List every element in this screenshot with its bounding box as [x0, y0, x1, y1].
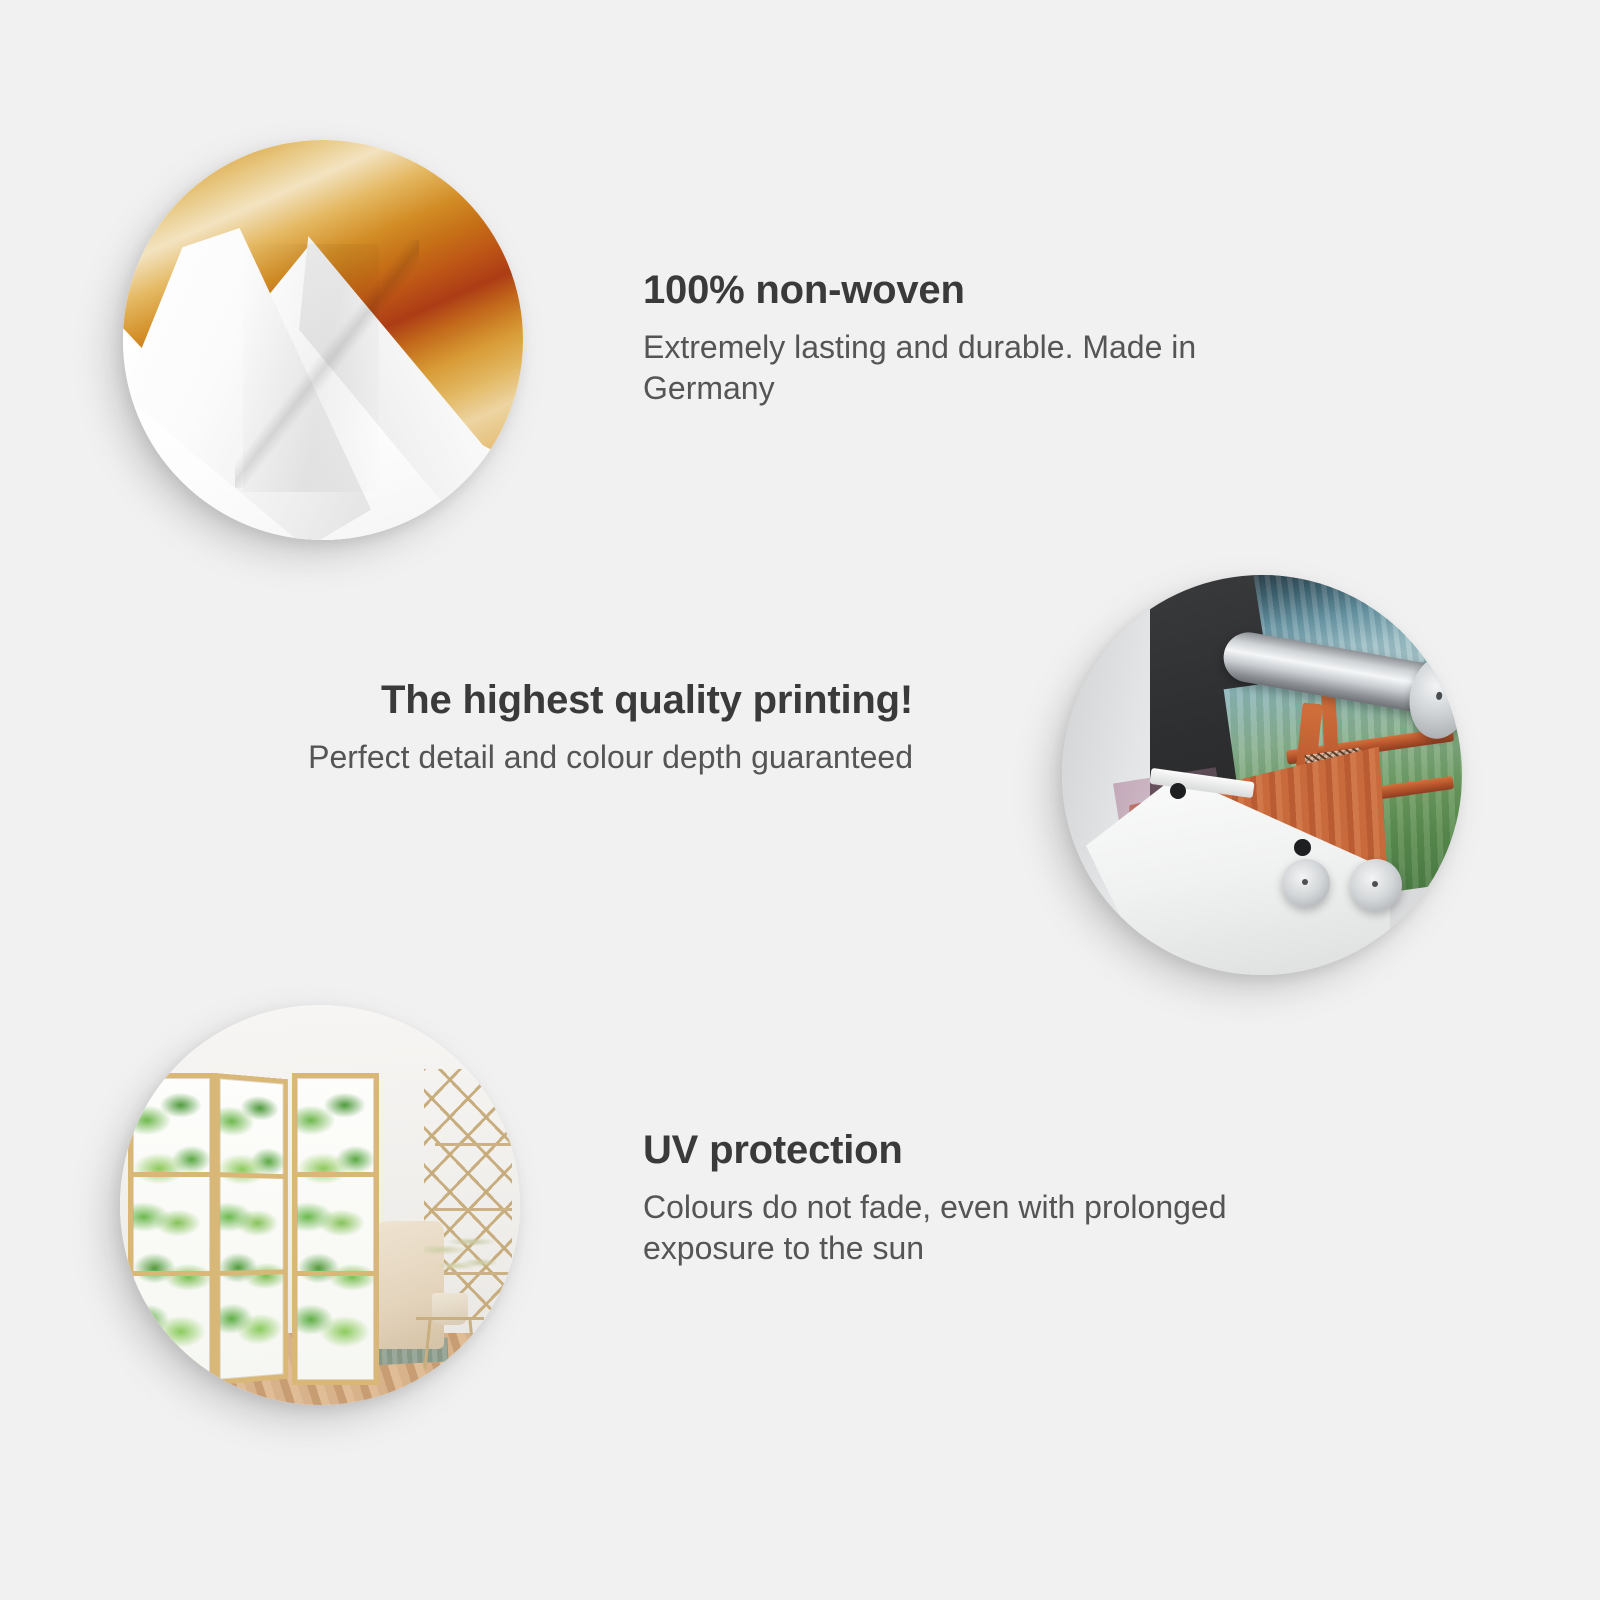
printer-knob-right [1294, 839, 1311, 856]
feature-body-non-woven: Extremely lasting and durable. Made in G… [643, 327, 1323, 410]
printer-wheel-right [1350, 859, 1402, 911]
divider-rail [133, 1271, 210, 1276]
wallpaper-fold-edge [235, 240, 419, 488]
feature-text-non-woven: 100% non-woven Extremely lasting and dur… [643, 268, 1323, 410]
room-palm-fronds [424, 1221, 496, 1301]
lattice-shelf-middle [435, 1208, 512, 1211]
divider-panel-left [128, 1073, 215, 1385]
printer-wheel-left [1282, 859, 1330, 907]
feature-text-uv-protection: UV protection Colours do not fade, even … [643, 1128, 1303, 1270]
infographic-canvas: 100% non-woven Extremely lasting and dur… [0, 0, 1600, 1600]
feature-image-uv-protection [120, 1005, 520, 1405]
feature-body-printing-quality: Perfect detail and colour depth guarante… [213, 737, 913, 779]
divider-rail [297, 1271, 374, 1276]
divider-rail [220, 1172, 284, 1179]
lattice-shelf-top [435, 1143, 512, 1146]
printer-illustration [1062, 575, 1462, 975]
feature-body-uv-protection: Colours do not fade, even with prolonged… [643, 1187, 1303, 1270]
room-illustration [120, 1005, 520, 1405]
feature-heading-non-woven: 100% non-woven [643, 268, 1323, 313]
feature-heading-uv-protection: UV protection [643, 1128, 1303, 1173]
divider-panel-right [292, 1073, 379, 1385]
feature-image-printing-quality [1062, 575, 1462, 975]
printer-knob-left [1170, 783, 1186, 799]
divider-rail [297, 1172, 374, 1177]
feature-text-printing-quality: The highest quality printing! Perfect de… [213, 678, 913, 778]
non-woven-illustration [123, 140, 523, 540]
room-side-table [416, 1317, 484, 1369]
feature-image-non-woven [123, 140, 523, 540]
divider-rail [133, 1172, 210, 1177]
room-divider-screen [128, 1073, 384, 1385]
divider-rail [220, 1270, 284, 1276]
divider-panel-middle [215, 1073, 288, 1385]
feature-heading-printing-quality: The highest quality printing! [213, 678, 913, 723]
